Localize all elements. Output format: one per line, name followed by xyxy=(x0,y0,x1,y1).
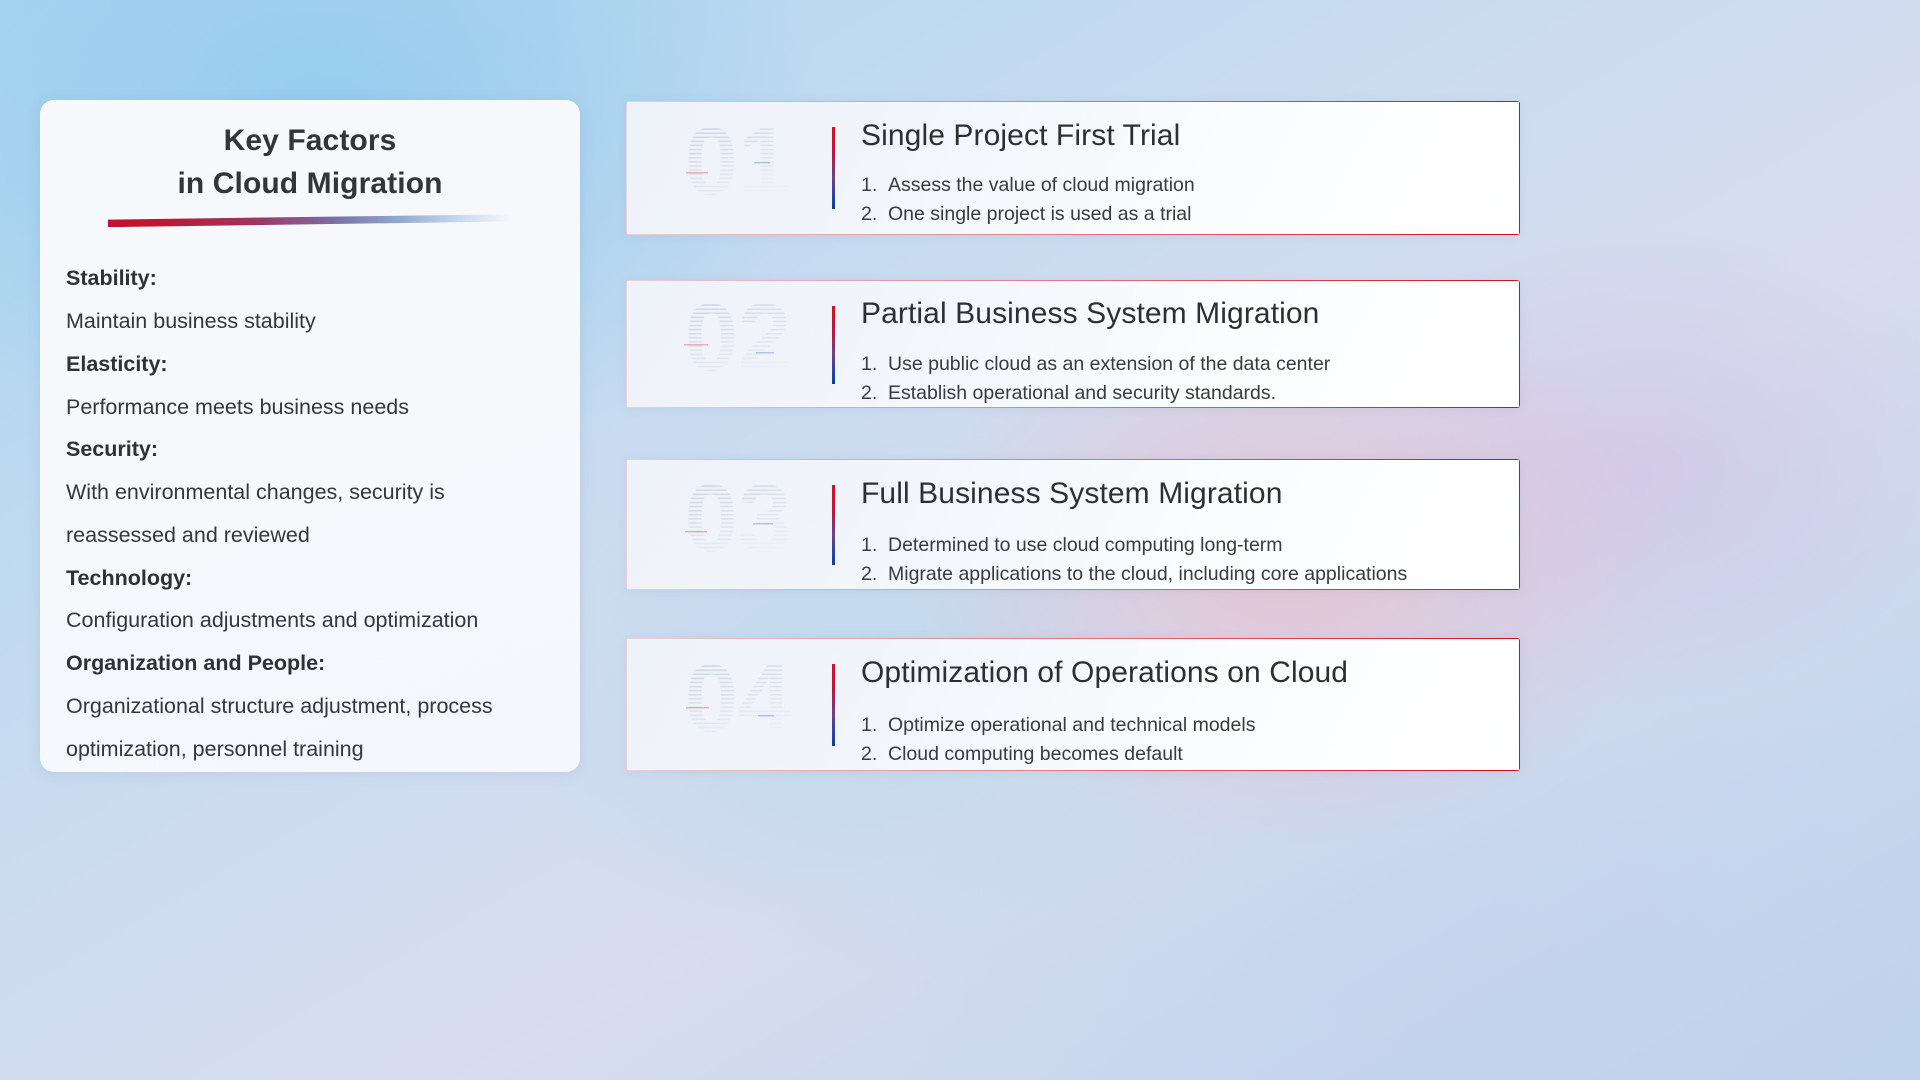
factor-item: Elasticity: Performance meets business n… xyxy=(66,343,554,429)
factor-desc-line: Organizational structure adjustment, pro… xyxy=(66,685,554,728)
step-card-02[interactable]: 02 Partial Business System Migration 1. … xyxy=(626,280,1520,408)
factor-desc-line: With environmental changes, security is xyxy=(66,471,554,514)
step-title: Partial Business System Migration xyxy=(861,297,1319,331)
step-title: Single Project First Trial xyxy=(861,119,1180,153)
list-item-text: Migrate applications to the cloud, inclu… xyxy=(888,560,1407,589)
list-item-text: Establish operational and security stand… xyxy=(888,379,1276,408)
list-item: 1. Optimize operational and technical mo… xyxy=(861,711,1255,740)
list-item: 1. Assess the value of cloud migration xyxy=(861,171,1195,200)
list-item-text: Optimize operational and technical model… xyxy=(888,711,1255,740)
factor-item: Technology: Configuration adjustments an… xyxy=(66,557,554,643)
list-item-text: Use public cloud as an extension of the … xyxy=(888,350,1330,379)
slide-canvas: Key Factors in Cloud Migration Stability… xyxy=(0,0,1920,1080)
step-number-01-icon: 01 xyxy=(658,116,818,220)
factor-item: Stability: Maintain business stability xyxy=(66,257,554,343)
step-number-02-icon: 02 xyxy=(658,292,818,396)
list-item: 2. Establish operational and security st… xyxy=(861,379,1330,408)
list-item-text: One single project is used as a trial xyxy=(888,200,1192,229)
step-item-list: 1. Optimize operational and technical mo… xyxy=(861,711,1255,768)
factor-desc-line: Configuration adjustments and optimizati… xyxy=(66,599,554,642)
factor-desc-line: Performance meets business needs xyxy=(66,386,554,429)
list-item: 2. Migrate applications to the cloud, in… xyxy=(861,560,1407,589)
panel-title: Key Factors in Cloud Migration xyxy=(40,100,580,205)
title-divider xyxy=(108,214,512,227)
list-item-text: Assess the value of cloud migration xyxy=(888,171,1195,200)
step-item-list: 1. Assess the value of cloud migration 2… xyxy=(861,171,1195,228)
card-accent-bar xyxy=(832,127,835,209)
factor-term: Security: xyxy=(66,428,554,471)
card-accent-bar xyxy=(832,306,835,384)
list-item-index: 2. xyxy=(861,560,879,589)
factor-desc-line: optimization, personnel training xyxy=(66,728,554,771)
list-item: 2. One single project is used as a trial xyxy=(861,200,1195,229)
card-accent-bar xyxy=(832,664,835,746)
step-card-03[interactable]: 03 Full Business System Migration 1. Det… xyxy=(626,459,1520,590)
factor-term: Technology: xyxy=(66,557,554,600)
factor-item: Security: With environmental changes, se… xyxy=(66,428,554,556)
key-factors-panel: Key Factors in Cloud Migration Stability… xyxy=(40,100,580,772)
list-item-text: Determined to use cloud computing long-t… xyxy=(888,531,1283,560)
step-number-04-icon: 04 xyxy=(658,653,818,757)
card-accent-bar xyxy=(832,485,835,565)
step-title: Optimization of Operations on Cloud xyxy=(861,656,1348,690)
list-item-index: 2. xyxy=(861,200,879,229)
step-item-list: 1. Use public cloud as an extension of t… xyxy=(861,350,1330,407)
list-item-index: 1. xyxy=(861,171,879,200)
factor-list: Stability: Maintain business stability E… xyxy=(40,227,580,770)
list-item-index: 1. xyxy=(861,711,879,740)
step-card-01[interactable]: 01 Single Project First Trial 1. Assess … xyxy=(626,101,1520,235)
factor-desc-line: reassessed and reviewed xyxy=(66,514,554,557)
factor-term: Stability: xyxy=(66,257,554,300)
factor-item: Organization and People: Organizational … xyxy=(66,642,554,770)
factor-term: Elasticity: xyxy=(66,343,554,386)
factor-term: Organization and People: xyxy=(66,642,554,685)
step-item-list: 1. Determined to use cloud computing lon… xyxy=(861,531,1407,588)
title-divider-gradient-bar xyxy=(108,214,512,227)
list-item: 1. Use public cloud as an extension of t… xyxy=(861,350,1330,379)
list-item: 2. Cloud computing becomes default xyxy=(861,740,1255,769)
list-item-index: 2. xyxy=(861,379,879,408)
list-item-index: 2. xyxy=(861,740,879,769)
panel-title-line-2: in Cloud Migration xyxy=(40,163,580,206)
list-item-index: 1. xyxy=(861,350,879,379)
list-item: 1. Determined to use cloud computing lon… xyxy=(861,531,1407,560)
panel-title-line-1: Key Factors xyxy=(40,120,580,163)
list-item-text: Cloud computing becomes default xyxy=(888,740,1183,769)
step-card-04[interactable]: 04 Optimization of Operations on Cloud 1… xyxy=(626,638,1520,771)
list-item-index: 1. xyxy=(861,531,879,560)
step-title: Full Business System Migration xyxy=(861,477,1282,511)
factor-desc-line: Maintain business stability xyxy=(66,300,554,343)
step-number-03-icon: 03 xyxy=(658,473,818,577)
